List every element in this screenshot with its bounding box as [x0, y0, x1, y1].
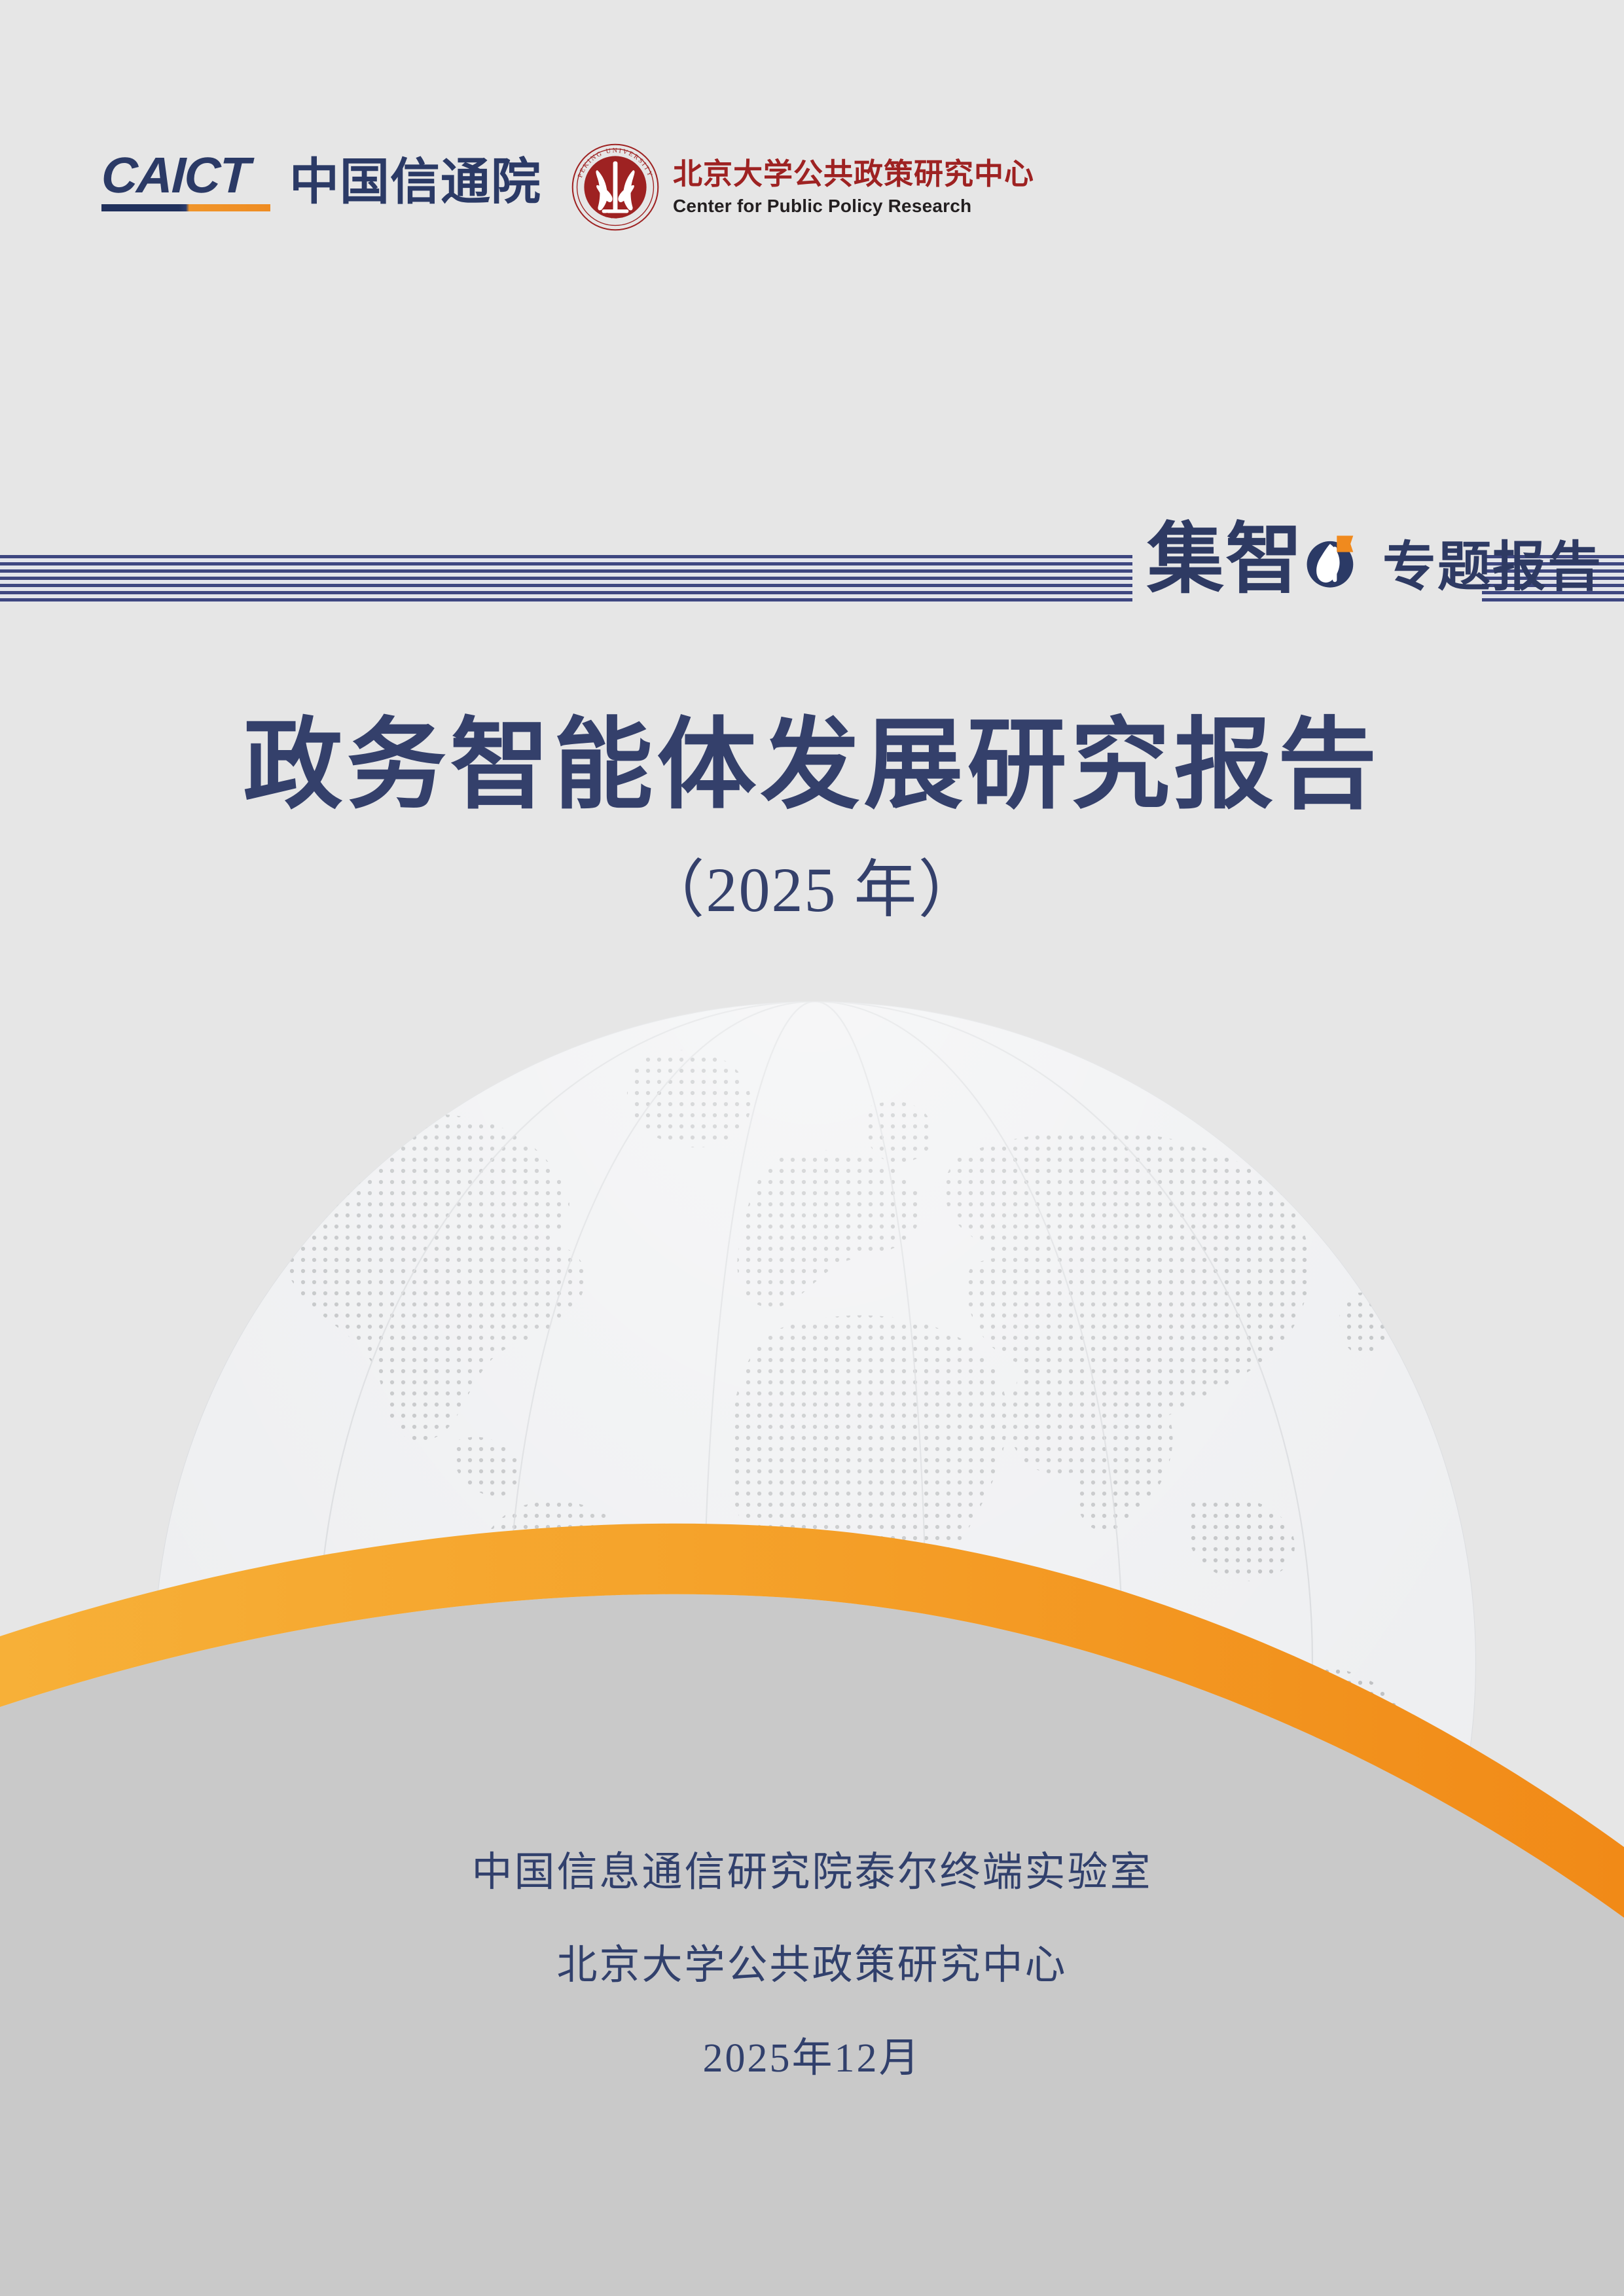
- caict-logo: CAICT 中国信通院: [101, 152, 541, 211]
- caict-mark: CAICT: [101, 152, 275, 211]
- jizhi-char-zhi: 智: [1225, 521, 1304, 598]
- caict-underline-bar: [101, 204, 270, 211]
- banner-stripes-left: [0, 555, 1132, 602]
- jizhi-char-ji: 集: [1147, 521, 1225, 598]
- peking-university-seal-icon: PEKING UNIVERSITY 1898: [571, 143, 660, 232]
- footer-organization-2: 北京大学公共政策研究中心: [0, 1945, 1624, 1986]
- series-banner: 集 智 专题报告: [0, 484, 1624, 635]
- title-block: 政务智能体发展研究报告 （2025 年）: [0, 706, 1624, 928]
- series-logo-block: 集 智 专题报告: [1147, 484, 1602, 635]
- footer-organization-1: 中国信息通信研究院泰尔终端实验室: [0, 1852, 1624, 1893]
- caict-chinese-name: 中国信通院: [289, 158, 541, 207]
- footer-date: 2025年12月: [0, 2038, 1624, 2079]
- pku-name-block: 北京大学公共政策研究中心 Center for Public Policy Re…: [673, 157, 1034, 217]
- series-label: 专题报告: [1382, 523, 1602, 601]
- footer-block: 中国信息通信研究院泰尔终端实验室 北京大学公共政策研究中心 2025年12月: [0, 1852, 1624, 2079]
- page-title: 政务智能体发展研究报告: [0, 706, 1624, 825]
- pku-center-english-name: Center for Public Policy Research: [673, 195, 1034, 217]
- page-subtitle: （2025 年）: [0, 852, 1624, 927]
- jizhi-leaf-circle-icon: [1297, 526, 1365, 594]
- report-cover-page: CAICT 中国信通院: [0, 0, 1624, 2296]
- pku-center-chinese-name: 北京大学公共政策研究中心: [673, 157, 1034, 191]
- caict-wordmark: CAICT: [101, 152, 276, 200]
- pku-logo: PEKING UNIVERSITY 1898 北京大学公共政策研究中心 Cent…: [571, 143, 1034, 232]
- jizhi-logo: 集 智: [1147, 521, 1365, 598]
- header-logos: CAICT 中国信通院: [0, 0, 1624, 262]
